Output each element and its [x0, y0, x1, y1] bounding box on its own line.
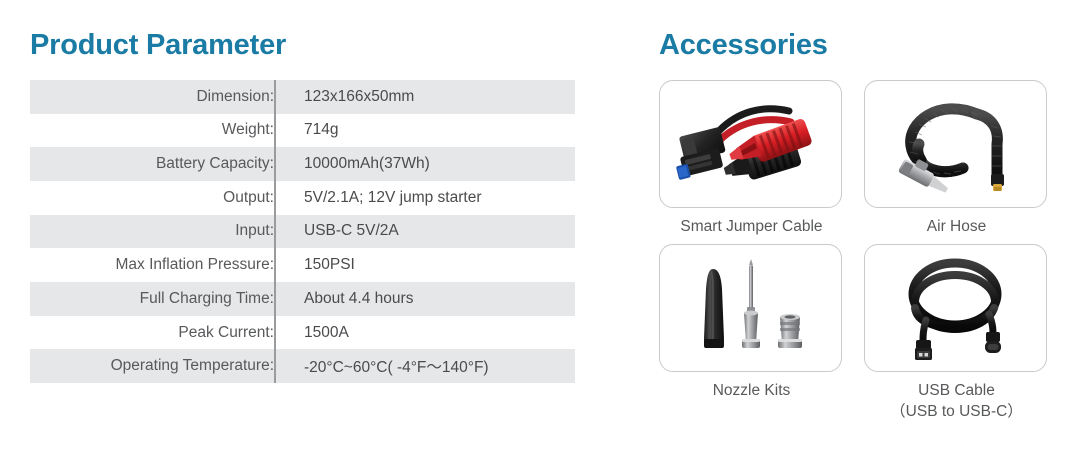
- spec-key: Max Inflation Pressure:: [30, 256, 288, 274]
- accessories-grid: Smart Jumper Cable: [659, 80, 1049, 423]
- product-parameter-section: Product Parameter Dimension: 123x166x50m…: [30, 30, 590, 383]
- spec-key: Input:: [30, 222, 288, 240]
- spec-key: Output:: [30, 189, 288, 207]
- accessory-item-air-hose: Air Hose: [864, 80, 1049, 238]
- table-row: Dimension: 123x166x50mm: [30, 80, 575, 114]
- accessory-label: Smart Jumper Cable: [659, 217, 844, 238]
- accessory-label: Air Hose: [864, 217, 1049, 238]
- accessory-card: [659, 80, 842, 208]
- spec-key: Full Charging Time:: [30, 290, 288, 308]
- accessory-label-text: Air Hose: [927, 218, 986, 235]
- smart-jumper-cable-icon: [671, 89, 831, 199]
- accessory-label-text: Smart Jumper Cable: [680, 218, 822, 235]
- accessory-card: [659, 244, 842, 372]
- spec-value: 1500A: [288, 324, 575, 342]
- accessory-sub-label: （USB to USB-C）: [864, 402, 1049, 423]
- spec-value: -20°C~60°C( -4°F～140°F): [288, 355, 575, 377]
- table-row: Output: 5V/2.1A; 12V jump starter: [30, 181, 575, 215]
- spec-value: 150PSI: [288, 256, 575, 274]
- accessories-section: Accessories: [659, 30, 1049, 423]
- spec-value: 123x166x50mm: [288, 88, 575, 106]
- spec-key: Battery Capacity:: [30, 155, 288, 173]
- specification-table: Dimension: 123x166x50mm Weight: 714g Bat…: [30, 80, 575, 383]
- spec-value: 5V/2.1A; 12V jump starter: [288, 189, 575, 207]
- table-row: Operating Temperature: -20°C~60°C( -4°F～…: [30, 349, 575, 383]
- product-spec-page: Product Parameter Dimension: 123x166x50m…: [0, 0, 1079, 461]
- accessory-label-text: USB Cable: [918, 382, 995, 399]
- spec-key: Operating Temperature:: [30, 357, 288, 375]
- table-row: Peak Current: 1500A: [30, 316, 575, 350]
- accessory-card: [864, 80, 1047, 208]
- accessory-item-nozzle-kits: Nozzle Kits: [659, 244, 844, 423]
- spec-value: 10000mAh(37Wh): [288, 155, 575, 173]
- accessory-label: USB Cable （USB to USB-C）: [864, 381, 1049, 423]
- nozzle-kits-icon: [676, 255, 826, 360]
- table-row: Full Charging Time: About 4.4 hours: [30, 282, 575, 316]
- spec-value: 714g: [288, 121, 575, 139]
- table-row: Input: USB-C 5V/2A: [30, 215, 575, 249]
- table-column-divider: [274, 80, 276, 383]
- accessory-item-usb-cable: USB Cable （USB to USB-C）: [864, 244, 1049, 423]
- table-row: Max Inflation Pressure: 150PSI: [30, 248, 575, 282]
- table-row: Battery Capacity: 10000mAh(37Wh): [30, 147, 575, 181]
- spec-value: About 4.4 hours: [288, 290, 575, 308]
- air-hose-icon: [881, 88, 1031, 200]
- spec-key: Weight:: [30, 121, 288, 139]
- accessory-label-text: Nozzle Kits: [713, 382, 791, 399]
- accessories-title: Accessories: [659, 30, 1049, 62]
- accessory-label: Nozzle Kits: [659, 381, 844, 402]
- table-row: Weight: 714g: [30, 114, 575, 148]
- accessory-item-smart-jumper-cable: Smart Jumper Cable: [659, 80, 844, 238]
- spec-value: USB-C 5V/2A: [288, 222, 575, 240]
- usb-cable-icon: [881, 252, 1031, 364]
- accessory-card: [864, 244, 1047, 372]
- spec-key: Dimension:: [30, 88, 288, 106]
- spec-key: Peak Current:: [30, 324, 288, 342]
- page-title: Product Parameter: [30, 30, 590, 62]
